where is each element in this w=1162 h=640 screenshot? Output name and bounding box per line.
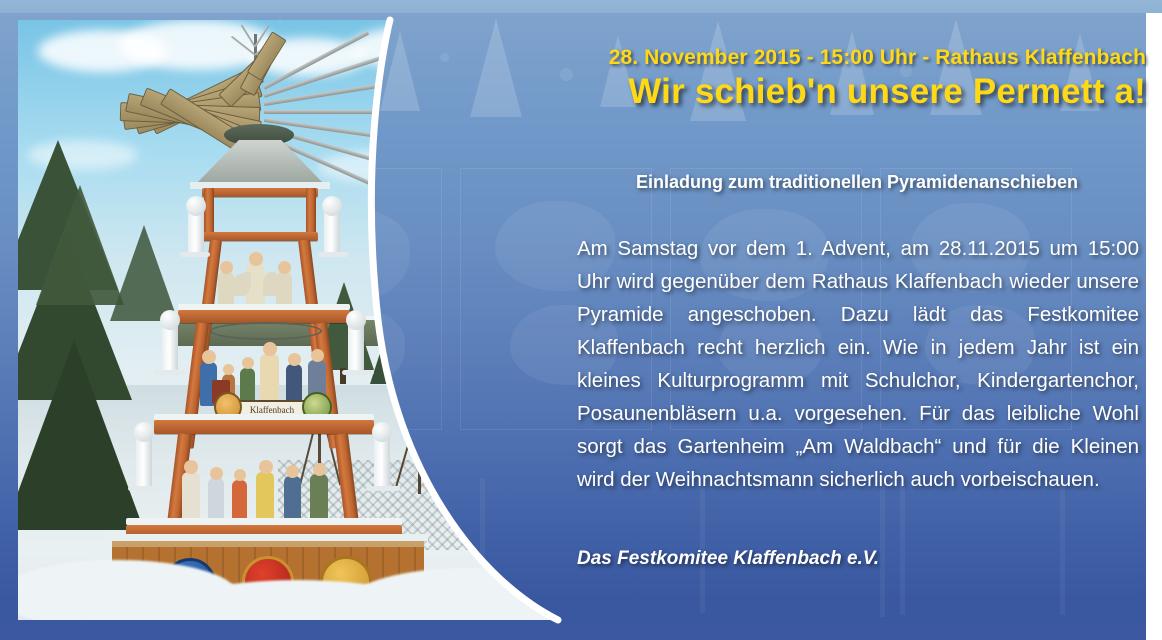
poster-canvas: Klaffenbach <box>0 0 1162 640</box>
top-light-strip <box>0 0 1162 13</box>
committee-signature: Das Festkomitee Klaffenbach e.V. <box>577 548 1139 570</box>
headline-block: 28. November 2015 - 15:00 Uhr - Rathaus … <box>496 46 1146 112</box>
pyramid-roof <box>194 140 326 186</box>
event-headline: Wir schieb'n unsere Permett a! <box>496 72 1146 112</box>
invitation-body-paragraph: Am Samstag vor dem 1. Advent, am 28.11.2… <box>577 232 1139 496</box>
invitation-subhead: Einladung zum traditionellen Pyramidenan… <box>577 172 1137 193</box>
event-kicker: 28. November 2015 - 15:00 Uhr - Rathaus … <box>496 46 1146 70</box>
invitation-body: Am Samstag vor dem 1. Advent, am 28.11.2… <box>577 232 1139 496</box>
